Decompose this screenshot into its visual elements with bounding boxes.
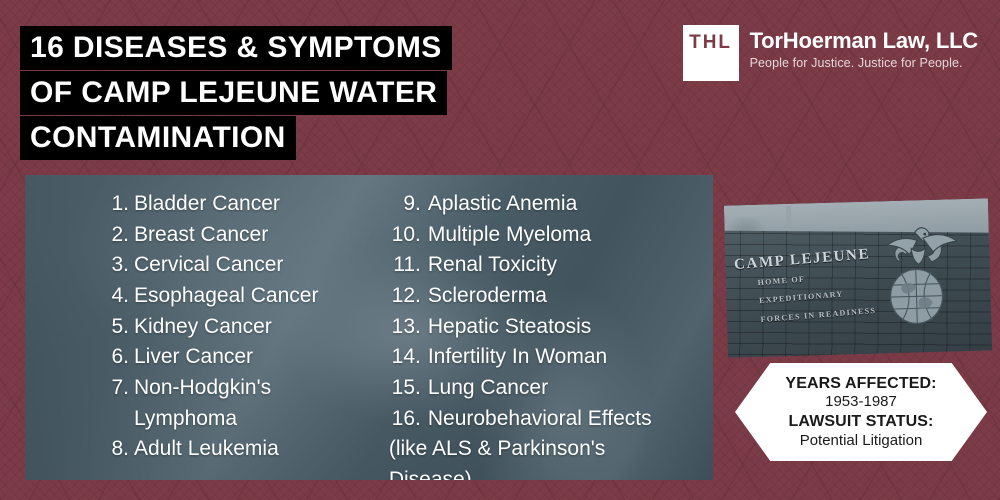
list-item-number: 10. (389, 220, 421, 251)
years-affected-label: YEARS AFFECTED: (785, 374, 936, 394)
list-item-label: Cervical Cancer (134, 250, 283, 281)
list-item-number: 1. (103, 189, 129, 220)
list-item-label: Scleroderma (428, 281, 547, 312)
list-item-number: 6. (103, 342, 129, 373)
logo-firm-name: TorHoerman Law, LLC (750, 29, 978, 52)
list-item-label: Esophageal Cancer (134, 281, 318, 312)
logo-mark-square: THL (683, 25, 739, 81)
list-item-continuation: Disease) (389, 465, 713, 480)
list-item-label: Multiple Myeloma (428, 220, 591, 251)
list-item-number: 13. (389, 312, 421, 343)
lawsuit-status-label: LAWSUIT STATUS: (789, 412, 934, 432)
list-item-label: Non-Hodgkin's (134, 373, 271, 404)
camp-lejeune-infographic: 16 DISEASES & SYMPTOMS OF CAMP LEJEUNE W… (0, 0, 1000, 500)
logo-mark-text: THL (689, 32, 732, 54)
list-item-label: Liver Cancer (134, 342, 253, 373)
lawsuit-status-value: Potential Litigation (800, 432, 923, 451)
list-item-label: Hepatic Steatosis (428, 312, 591, 343)
years-affected-value: 1953-1987 (825, 393, 897, 412)
list-item-label: Breast Cancer (134, 220, 268, 251)
sign-lettering: CAMP LEJEUNE HOME OF EXPEDITIONARY FORCE… (734, 246, 877, 329)
list-item-label: Neurobehavioral Effects (428, 404, 652, 435)
list-item-number: 7. (103, 373, 129, 404)
logo-textblock: TorHoerman Law, LLC People for Justice. … (750, 25, 978, 70)
list-item: 5.Kidney Cancer (103, 312, 381, 343)
list-item-label: Renal Toxicity (428, 250, 557, 281)
sign-scene: CAMP LEJEUNE HOME OF EXPEDITIONARY FORCE… (724, 198, 992, 357)
list-item-number: 16. (389, 404, 421, 435)
disease-list-right-column: 9.Aplastic Anemia10.Multiple Myeloma11.R… (381, 189, 713, 480)
list-item: 11.Renal Toxicity (389, 250, 713, 281)
list-item: 12.Scleroderma (389, 281, 713, 312)
status-badge: YEARS AFFECTED: 1953-1987 LAWSUIT STATUS… (735, 363, 987, 461)
list-item: 10.Multiple Myeloma (389, 220, 713, 251)
list-item-label: Aplastic Anemia (428, 189, 577, 220)
brand-logo[interactable]: THL TorHoerman Law, LLC People for Justi… (683, 25, 978, 81)
page-title: 16 DISEASES & SYMPTOMS OF CAMP LEJEUNE W… (20, 26, 580, 161)
list-item: 3.Cervical Cancer (103, 250, 381, 281)
list-item-number: 9. (389, 189, 421, 220)
list-item-label: Lung Cancer (428, 373, 548, 404)
title-line-2: OF CAMP LEJEUNE WATER (20, 71, 447, 115)
list-item: 8.Adult Leukemia (103, 434, 381, 465)
list-item: 2.Breast Cancer (103, 220, 381, 251)
logo-tagline: People for Justice. Justice for People. (750, 56, 978, 70)
title-line-3: CONTAMINATION (20, 116, 296, 160)
list-item-number: 12. (389, 281, 421, 312)
marine-corps-eagle-globe-anchor-icon (866, 217, 965, 340)
list-item-number: 3. (103, 250, 129, 281)
list-item: 9.Aplastic Anemia (389, 189, 713, 220)
list-item-number: 5. (103, 312, 129, 343)
list-item: 4.Esophageal Cancer (103, 281, 381, 312)
disease-list-panel: 1.Bladder Cancer2.Breast Cancer3.Cervica… (25, 175, 713, 480)
list-item: 15.Lung Cancer (389, 373, 713, 404)
list-item-number: 14. (389, 342, 421, 373)
list-item-number: 4. (103, 281, 129, 312)
list-item: 16.Neurobehavioral Effects (389, 404, 713, 435)
list-item: 6.Liver Cancer (103, 342, 381, 373)
list-item-label: Infertility In Woman (428, 342, 607, 373)
list-item-label: Bladder Cancer (134, 189, 280, 220)
disease-list-left-column: 1.Bladder Cancer2.Breast Cancer3.Cervica… (25, 189, 381, 480)
list-item-number: 8. (103, 434, 129, 465)
list-item: 13.Hepatic Steatosis (389, 312, 713, 343)
list-item-number: 15. (389, 373, 421, 404)
list-item-label: Adult Leukemia (134, 434, 279, 465)
list-item: 1.Bladder Cancer (103, 189, 381, 220)
camp-lejeune-sign-photo: CAMP LEJEUNE HOME OF EXPEDITIONARY FORCE… (724, 198, 992, 357)
list-item: 14.Infertility In Woman (389, 342, 713, 373)
list-item-continuation: Lymphoma (103, 404, 381, 435)
list-item: 7.Non-Hodgkin's (103, 373, 381, 404)
list-item-number: 2. (103, 220, 129, 251)
title-line-1: 16 DISEASES & SYMPTOMS (20, 26, 452, 70)
list-item-continuation: (like ALS & Parkinson's (389, 434, 713, 465)
list-item-number: 11. (389, 250, 421, 281)
list-item-label: Kidney Cancer (134, 312, 272, 343)
